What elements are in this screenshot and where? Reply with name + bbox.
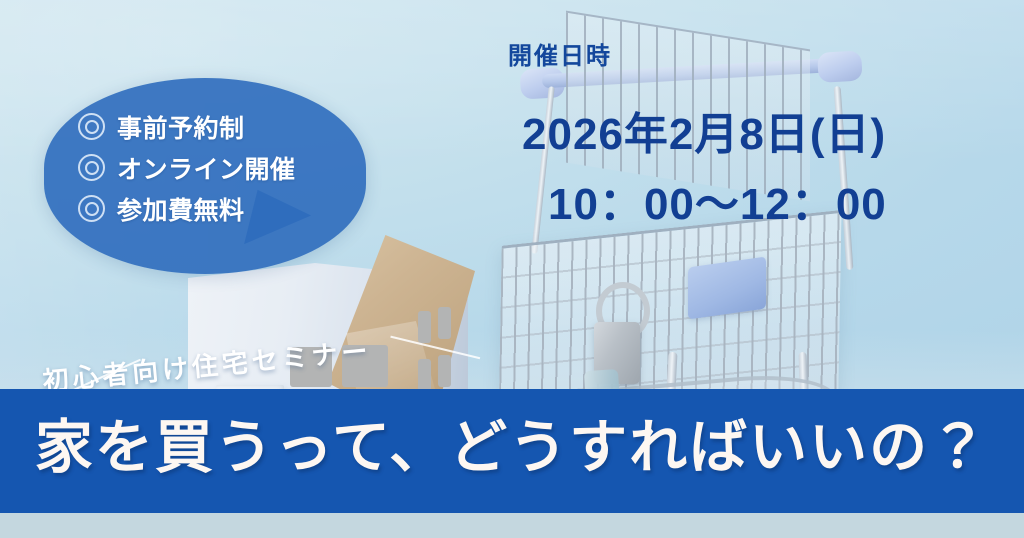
- schedule-date: 2026年2月8日(日): [522, 98, 886, 162]
- schedule-label: 開催日時: [508, 36, 612, 71]
- feature-label: 事前予約制: [117, 109, 245, 145]
- bottom-strip: [0, 513, 1024, 538]
- house-side-window: [438, 355, 451, 387]
- schedule-time: 10：00〜12：00: [548, 168, 887, 232]
- cart-handle-knob-right: [817, 50, 863, 82]
- cart-contents-box: [688, 257, 766, 320]
- house-side-window: [418, 311, 431, 343]
- double-circle-icon: [78, 154, 105, 181]
- feature-label: 参加費無料: [117, 191, 245, 227]
- house-side-window: [418, 359, 431, 391]
- list-item: 事前予約制: [78, 106, 348, 147]
- double-circle-icon: [78, 195, 105, 222]
- seminar-banner: 事前予約制 オンライン開催 参加費無料 開催日時 2026年2月8日(日) 10…: [0, 0, 1024, 538]
- list-item: 参加費無料: [78, 188, 348, 229]
- double-circle-icon: [78, 113, 105, 140]
- features-list: 事前予約制 オンライン開催 参加費無料: [78, 106, 348, 229]
- feature-label: オンライン開催: [117, 150, 296, 186]
- list-item: オンライン開催: [78, 147, 348, 188]
- page-title: 家を買うって、どうすればいいの？: [0, 400, 1024, 484]
- house-side-window: [438, 307, 451, 339]
